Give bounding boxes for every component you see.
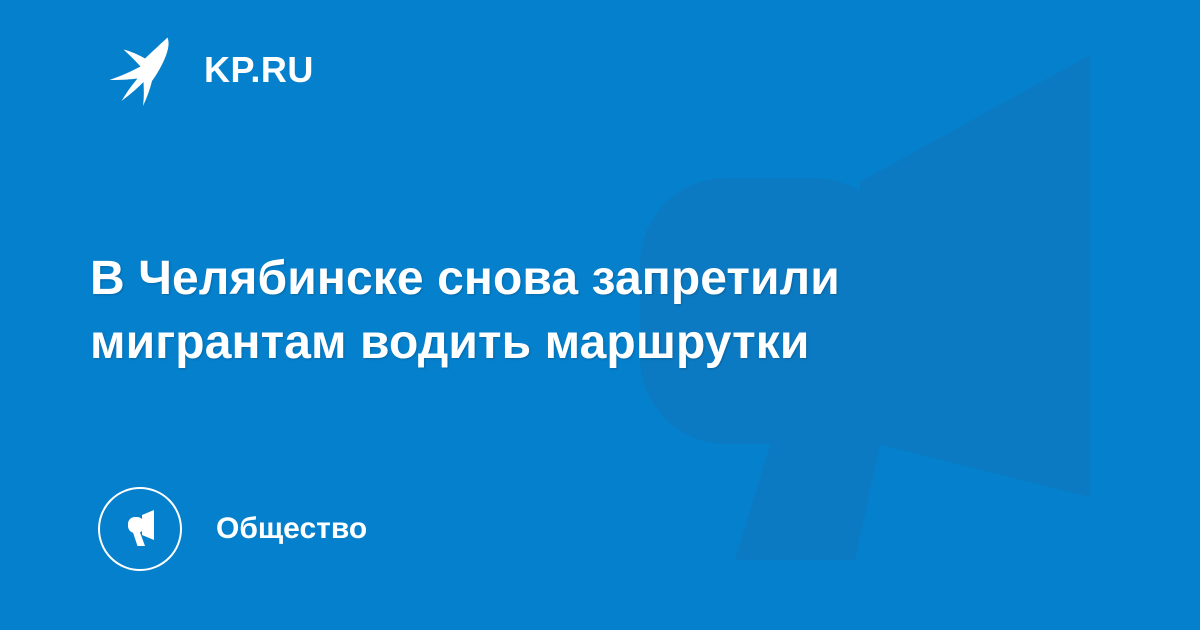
rubric-label: Общество [216, 514, 367, 544]
page-title: В Челябинске снова запретили мигрантам в… [90, 247, 1030, 376]
megaphone-icon [118, 507, 162, 551]
social-share-card: KP.RU В Челябинске снова запретили мигра… [0, 0, 1200, 630]
rubric-icon-badge [98, 487, 182, 571]
brand-logo[interactable]: KP.RU [104, 34, 314, 106]
swallow-bird-icon [104, 34, 178, 106]
rubric-tag[interactable]: Общество [98, 487, 367, 571]
brand-name: KP.RU [204, 52, 314, 88]
